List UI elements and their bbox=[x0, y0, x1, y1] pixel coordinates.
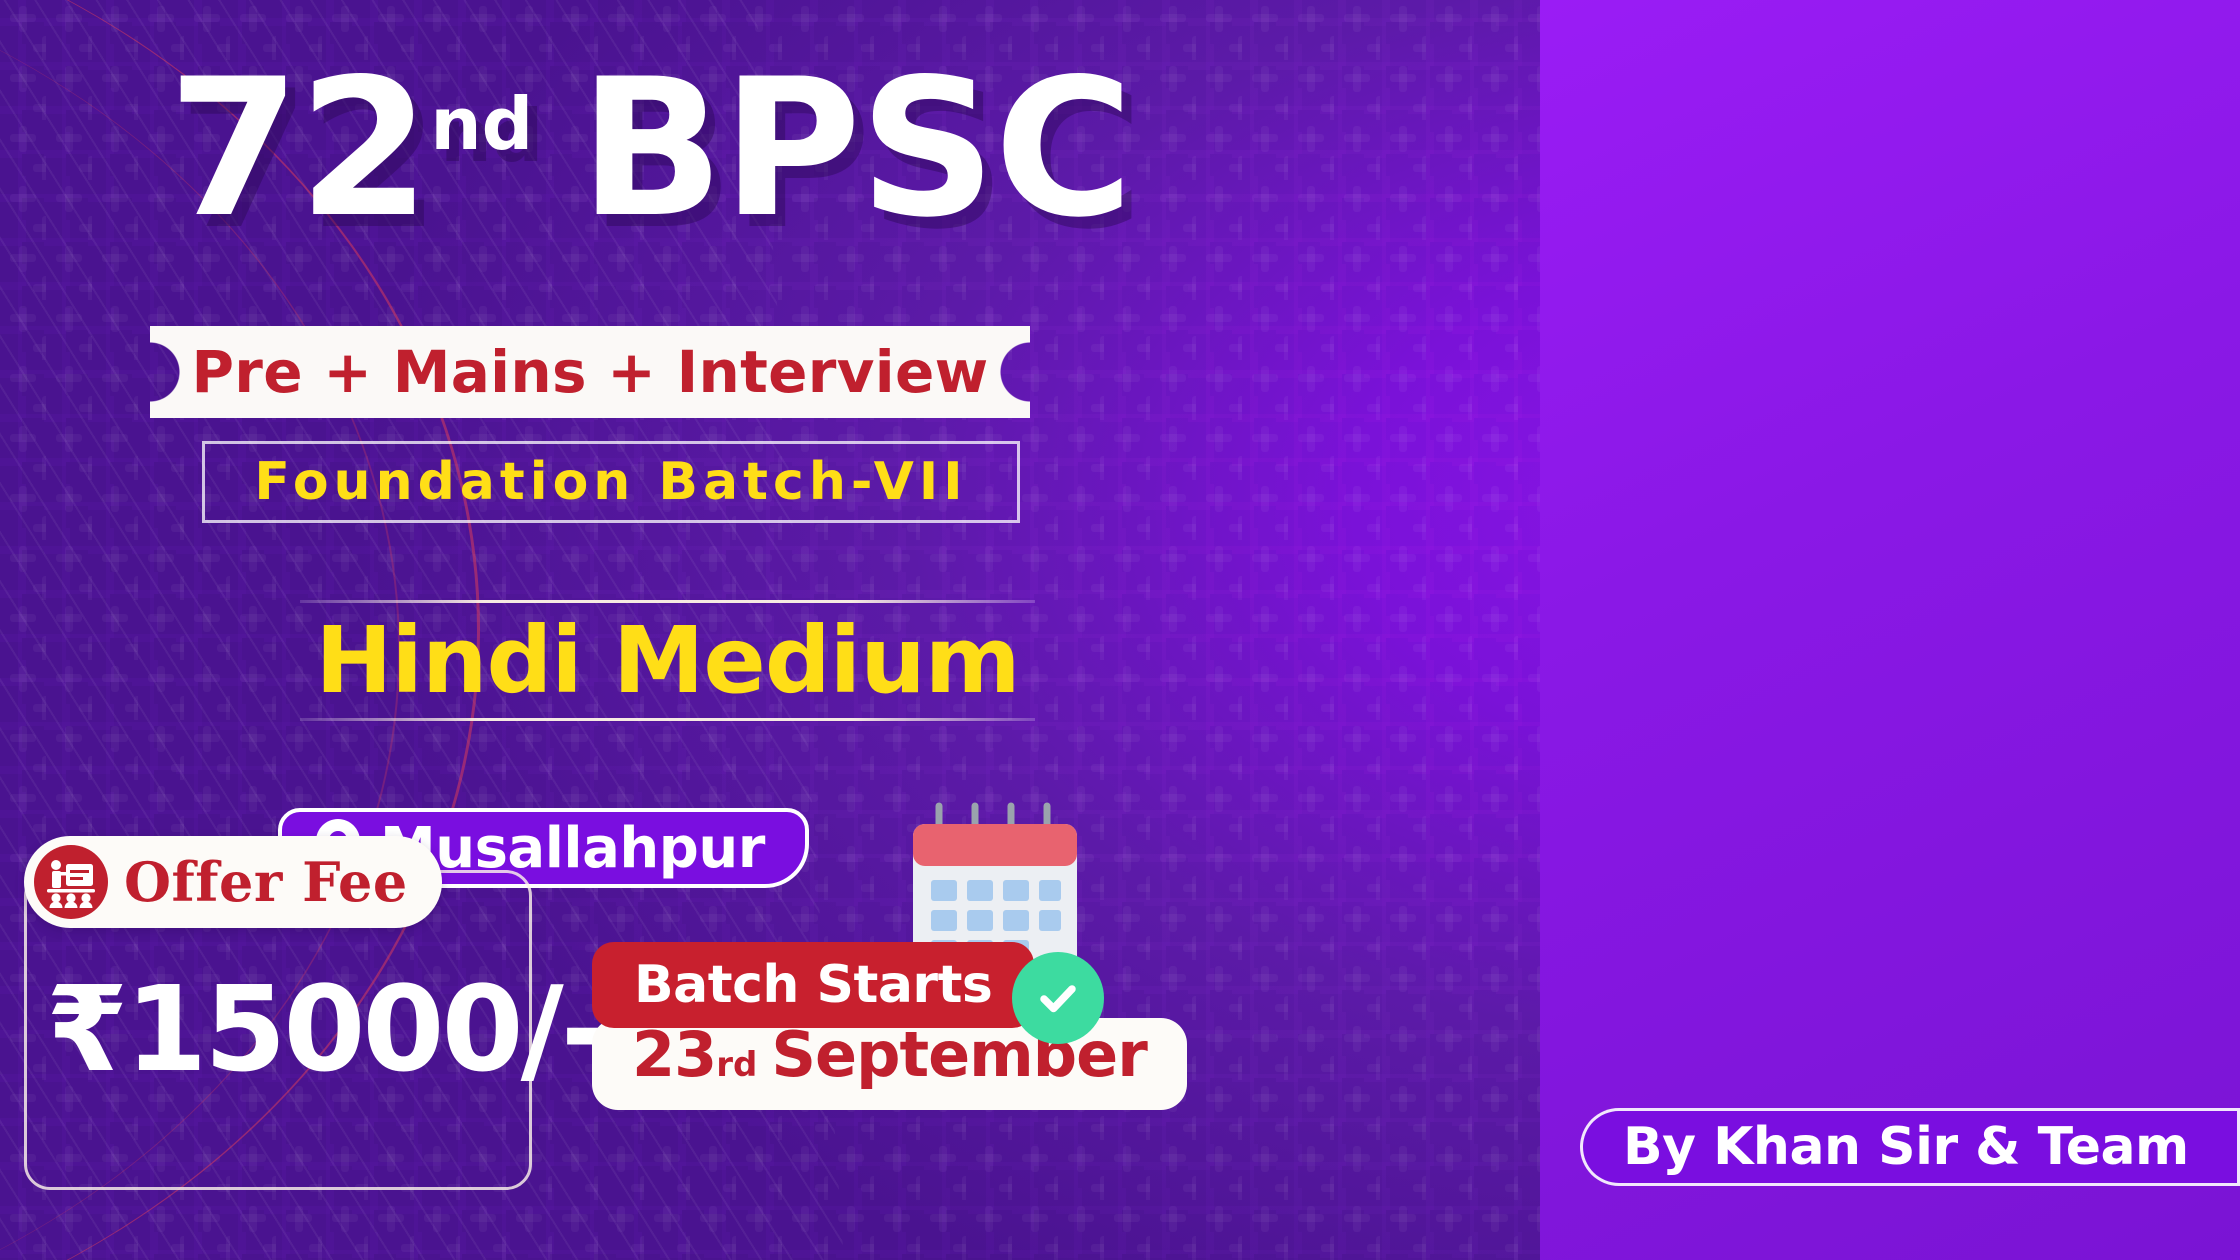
faculty-label: By Khan Sir & Team bbox=[1623, 1117, 2189, 1177]
batch-date-ordinal: rd bbox=[716, 1045, 757, 1085]
check-circle-icon bbox=[1012, 952, 1104, 1044]
divider-bottom bbox=[300, 718, 1035, 721]
batch-starts-badge: Batch Starts bbox=[592, 942, 1034, 1028]
banner-title: 72 nd BPSC bbox=[168, 62, 1132, 237]
course-stages-ribbon: Pre + Mains + Interview bbox=[150, 326, 1030, 418]
course-stages-text: Pre + Mains + Interview bbox=[191, 338, 988, 406]
promo-banner: 72 nd BPSC Pre + Mains + Interview Found… bbox=[0, 0, 2240, 1260]
exam-name: BPSC bbox=[579, 62, 1131, 237]
faculty-badge: By Khan Sir & Team bbox=[1580, 1108, 2240, 1186]
batch-name-text: Foundation Batch-VII bbox=[254, 452, 967, 512]
medium-section: Hindi Medium bbox=[300, 600, 1035, 721]
batch-date-day: 23 bbox=[632, 1018, 716, 1091]
batch-starts-label: Batch Starts bbox=[634, 955, 992, 1015]
offer-fee-label: Offer Fee bbox=[124, 850, 408, 914]
classroom-teaching-icon bbox=[34, 845, 108, 919]
batch-name-box: Foundation Batch-VII bbox=[202, 441, 1020, 523]
offer-price: ₹15000/- bbox=[46, 960, 607, 1098]
photo-background bbox=[1540, 0, 2240, 1260]
exam-number: 72 bbox=[168, 62, 428, 237]
offer-fee-badge: Offer Fee bbox=[24, 836, 442, 928]
instructor-photo bbox=[1540, 0, 2240, 1260]
medium-text: Hindi Medium bbox=[300, 603, 1035, 718]
exam-ordinal: nd bbox=[430, 88, 533, 160]
batch-date-badge: 23 rd September bbox=[592, 1018, 1187, 1110]
